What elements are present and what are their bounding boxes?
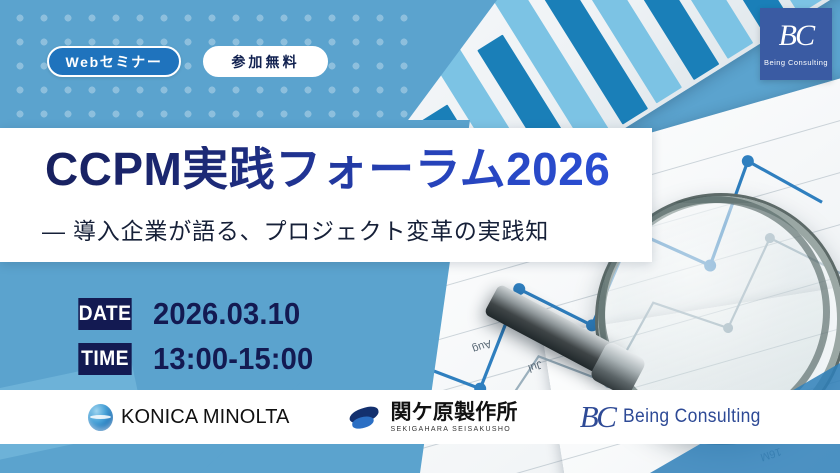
- konica-minolta-label: KONICA MINOLTA: [121, 406, 289, 429]
- page-subtitle: ― 導入企業が語る、プロジェクト変革の実践知: [42, 212, 549, 246]
- time-value: 13:00-15:00: [153, 341, 313, 377]
- badge-webinar[interactable]: Webセミナー: [47, 46, 181, 77]
- sekigahara-label-en: SEKIGAHARA SEISAKUSHO: [390, 426, 517, 433]
- detail-row-date: DATE 2026.03.10: [76, 296, 324, 332]
- sponsor-logo-list: KONICA MINOLTA 関ケ原製作所 SEKIGAHARA SEISAKU…: [0, 390, 840, 444]
- sponsor-sekigahara[interactable]: 関ケ原製作所 SEKIGAHARA SEISAKUSHO: [347, 402, 517, 433]
- sekigahara-label-group: 関ケ原製作所 SEKIGAHARA SEISAKUSHO: [390, 402, 517, 433]
- date-value: 2026.03.10: [153, 296, 300, 332]
- title-band: CCPM実践フォーラム2026 ― 導入企業が語る、プロジェクト変革の実践知: [0, 128, 652, 262]
- sekigahara-label-ja: 関ケ原製作所: [390, 402, 517, 423]
- page-title: CCPM実践フォーラム2026: [45, 146, 610, 192]
- badge-row: Webセミナー 参加無料: [47, 46, 328, 77]
- konica-minolta-orb-icon: [88, 404, 113, 431]
- corner-logo-monogram-icon: BC: [779, 21, 814, 51]
- sponsor-logo-band: KONICA MINOLTA 関ケ原製作所 SEKIGAHARA SEISAKU…: [0, 390, 840, 444]
- event-details: DATE 2026.03.10 TIME 13:00-15:00: [76, 296, 324, 386]
- detail-row-time: TIME 13:00-15:00: [76, 341, 324, 377]
- sponsor-konica-minolta[interactable]: KONICA MINOLTA: [88, 404, 289, 431]
- corner-logo-label: Being Consulting: [764, 58, 828, 67]
- webinar-banner: Sep Aug Jul 16M Webセミナー 参加無料 CCPM実践フォーラム…: [0, 0, 840, 473]
- time-tag-label: TIME: [78, 343, 131, 375]
- badge-free-admission[interactable]: 参加無料: [203, 46, 328, 77]
- being-consulting-label: Being Consulting: [623, 406, 761, 428]
- date-tag-label: DATE: [78, 298, 131, 330]
- sponsor-being-consulting[interactable]: BC Being Consulting: [580, 403, 773, 431]
- being-consulting-monogram-icon: BC: [580, 403, 615, 431]
- corner-logo-badge[interactable]: BC Being Consulting: [760, 8, 832, 80]
- sekigahara-mark-icon: [347, 404, 383, 430]
